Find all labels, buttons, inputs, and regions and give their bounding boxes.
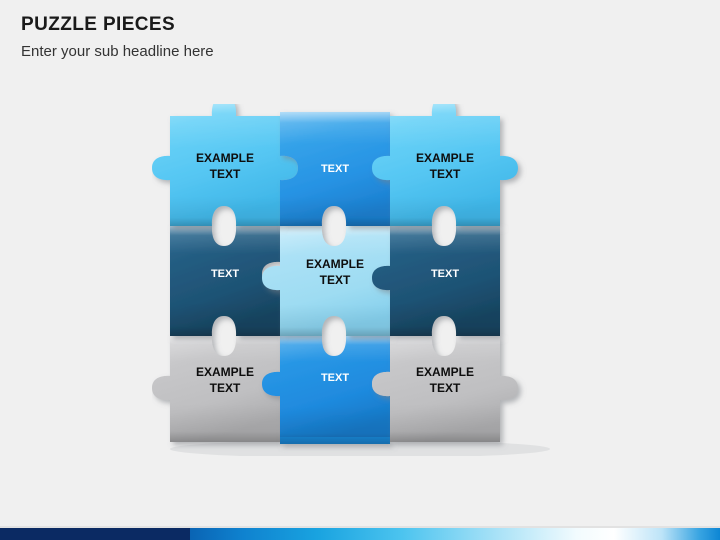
piece-r1c3-sheen [390,104,500,148]
puzzle-row-1 [152,104,518,226]
piece-r1c3-shade [390,196,500,226]
page-title: PUZZLE PIECES [21,14,214,36]
footer-navy-block [0,528,190,540]
puzzle-row-2 [170,226,500,336]
piece-r3c3-shade [390,404,500,442]
slide-header: PUZZLE PIECES Enter your sub headline he… [21,14,214,62]
piece-r2c1-shade [170,302,280,336]
piece-r3c3[interactable] [372,336,518,442]
puzzle-row-3 [152,336,518,444]
page-subtitle: Enter your sub headline here [21,42,214,62]
piece-r3c1-sheen [170,336,280,362]
puzzle-svg: EXAMPLE TEXT TEXT EXAMPLE TEXT TEXT EXAM… [152,104,562,456]
piece-r1c3[interactable] [372,104,518,226]
piece-r3c2[interactable] [262,336,390,444]
piece-r2c3-shade [390,302,500,336]
piece-r3c2-sheen [280,336,390,362]
footer-gradient-block [190,528,720,540]
piece-r1c2-shade [280,196,390,226]
piece-r1c1[interactable] [152,104,298,226]
puzzle-diagram: EXAMPLE TEXT TEXT EXAMPLE TEXT TEXT EXAM… [152,104,562,456]
piece-r3c3-sheen [390,336,500,362]
piece-r2c2-shade [280,304,390,336]
piece-r2c1-sheen [170,226,280,254]
piece-r3c1-shade [170,404,280,442]
piece-r2c3[interactable] [372,226,500,336]
piece-r1c1-sheen [170,104,280,148]
footer-bar [0,528,720,540]
piece-r3c1[interactable] [152,336,280,442]
piece-r3c2-shade [280,406,390,444]
piece-r1c2-sheen [280,112,390,144]
slide-canvas: PUZZLE PIECES Enter your sub headline he… [0,0,720,540]
piece-r2c2-sheen [280,226,390,256]
piece-r2c3-sheen [390,226,500,254]
piece-r1c1-shade [170,196,280,226]
